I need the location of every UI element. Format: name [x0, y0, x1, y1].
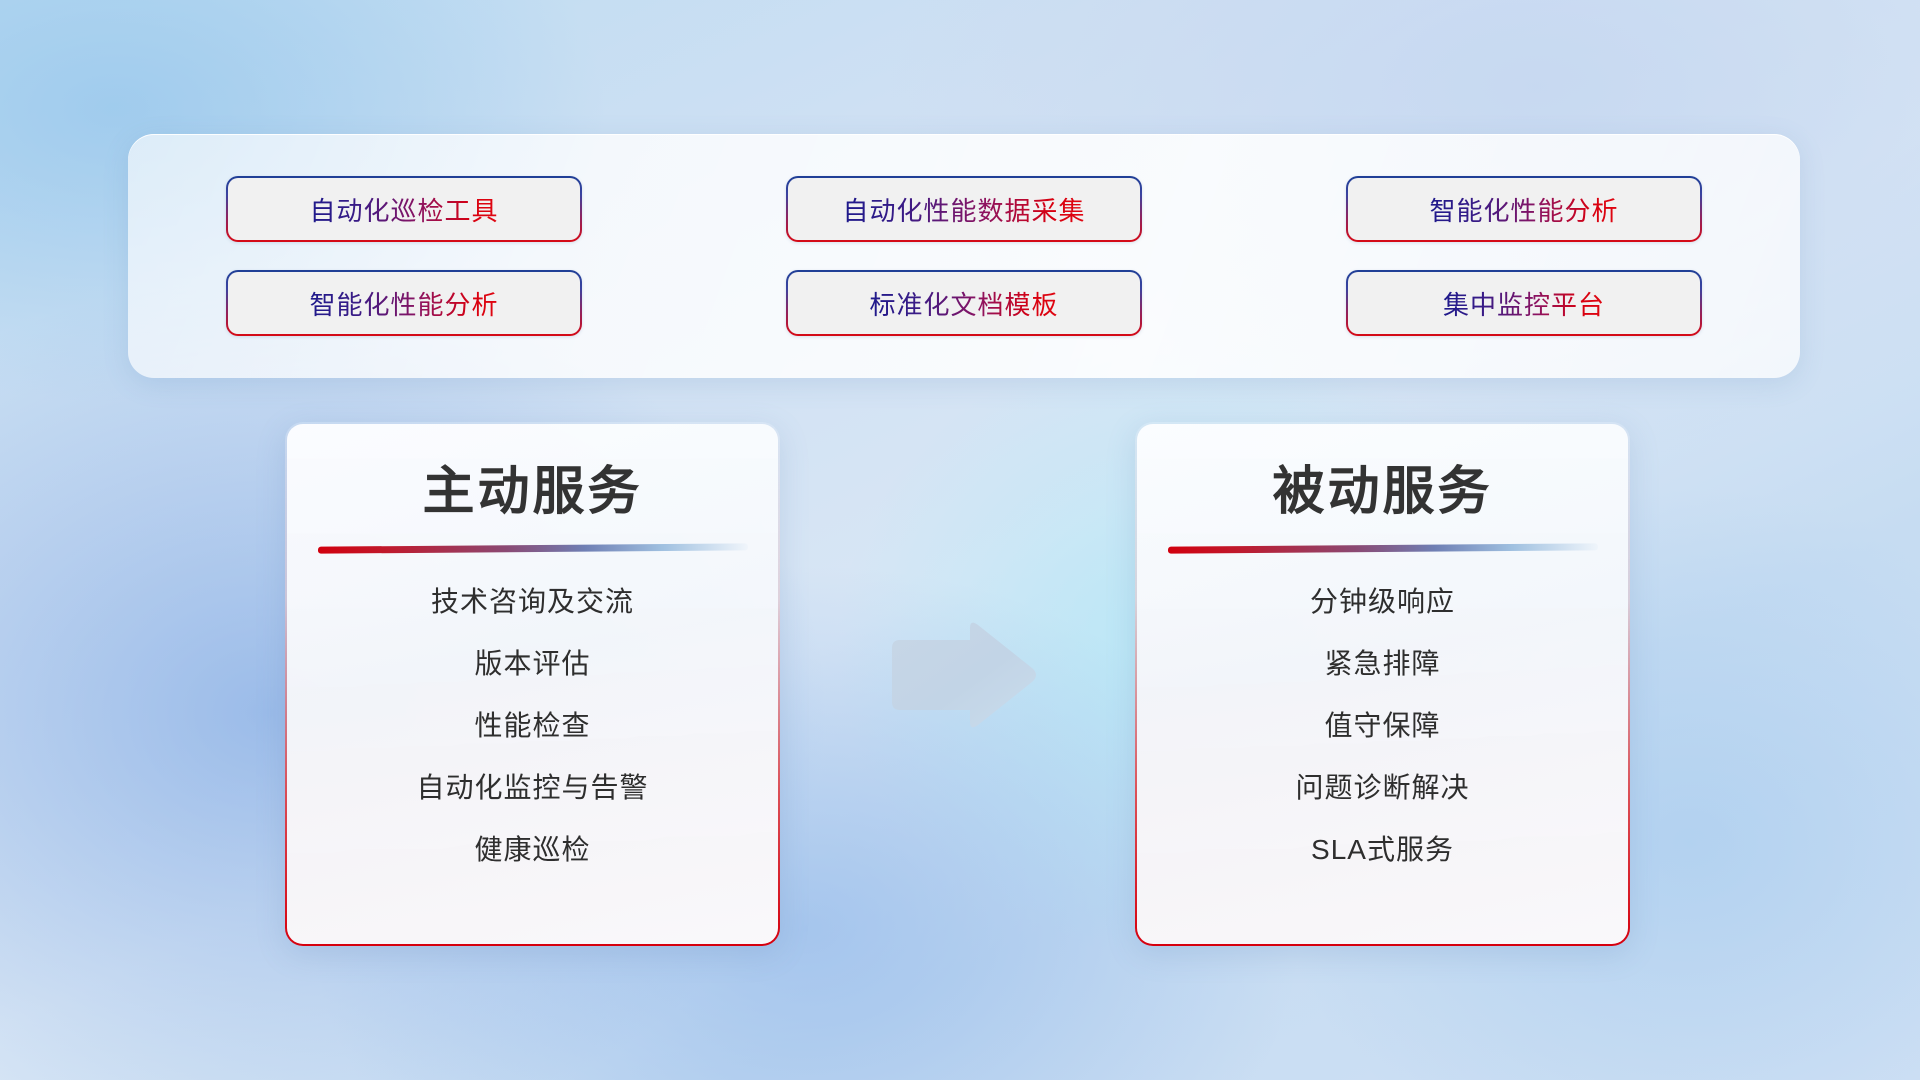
slide-content: 自动化巡检工具 自动化性能数据采集 智能化性能分析 智能化性能分析 标准化文档模… [0, 0, 1920, 1080]
right-arrow-icon [882, 618, 1040, 734]
flow-arrow [882, 618, 1040, 734]
card-body: 被动服务 分钟级响应 紧急排障 值守保障 问题诊断解决 SLA式服务 [1139, 426, 1626, 942]
list-item: 问题诊断解决 [1295, 774, 1469, 802]
list-item: 值守保障 [1324, 712, 1440, 740]
card-item-list: 分钟级响应 紧急排障 值守保障 问题诊断解决 SLA式服务 [1139, 588, 1626, 864]
card-item-list: 技术咨询及交流 版本评估 性能检查 自动化监控与告警 健康巡检 [289, 588, 776, 864]
card-title: 被动服务 [1272, 461, 1492, 523]
capability-row-2: 智能化性能分析 标准化文档模板 集中监控平台 [226, 270, 1702, 336]
capability-chip[interactable]: 标准化文档模板 [786, 270, 1142, 336]
list-item: 性能检查 [474, 712, 590, 740]
capability-chip[interactable]: 自动化巡检工具 [226, 176, 582, 242]
service-card-proactive[interactable]: 主动服务 技术咨询及交流 版本评估 性能检查 自动化监控与告警 健康巡检 [285, 422, 780, 946]
card-body: 主动服务 技术咨询及交流 版本评估 性能检查 自动化监控与告警 健康巡检 [289, 426, 776, 942]
capability-chip[interactable]: 自动化性能数据采集 [786, 176, 1142, 242]
card-title: 主动服务 [422, 461, 642, 523]
capability-chip[interactable]: 智能化性能分析 [226, 270, 582, 336]
list-item: 健康巡检 [474, 836, 590, 864]
capability-chip[interactable]: 集中监控平台 [1346, 270, 1702, 336]
list-item: 自动化监控与告警 [416, 774, 648, 802]
service-card-reactive[interactable]: 被动服务 分钟级响应 紧急排障 值守保障 问题诊断解决 SLA式服务 [1135, 422, 1630, 946]
list-item: 紧急排障 [1324, 650, 1440, 678]
capability-chip[interactable]: 智能化性能分析 [1346, 176, 1702, 242]
capability-chip-label: 标准化文档模板 [869, 285, 1058, 322]
list-item: 版本评估 [474, 650, 590, 678]
capability-chip-label: 自动化性能数据采集 [842, 191, 1085, 228]
capability-chip-label: 自动化巡检工具 [309, 191, 498, 228]
capability-row-1: 自动化巡检工具 自动化性能数据采集 智能化性能分析 [226, 176, 1702, 242]
list-item: 分钟级响应 [1310, 588, 1455, 616]
capability-chip-label: 智能化性能分析 [309, 285, 498, 322]
list-item: SLA式服务 [1311, 836, 1454, 864]
capability-chip-label: 智能化性能分析 [1429, 191, 1618, 228]
capabilities-panel: 自动化巡检工具 自动化性能数据采集 智能化性能分析 智能化性能分析 标准化文档模… [128, 134, 1800, 378]
list-item: 技术咨询及交流 [431, 588, 634, 616]
card-divider [318, 544, 748, 554]
card-divider [1168, 544, 1598, 554]
capability-chip-label: 集中监控平台 [1443, 285, 1605, 322]
